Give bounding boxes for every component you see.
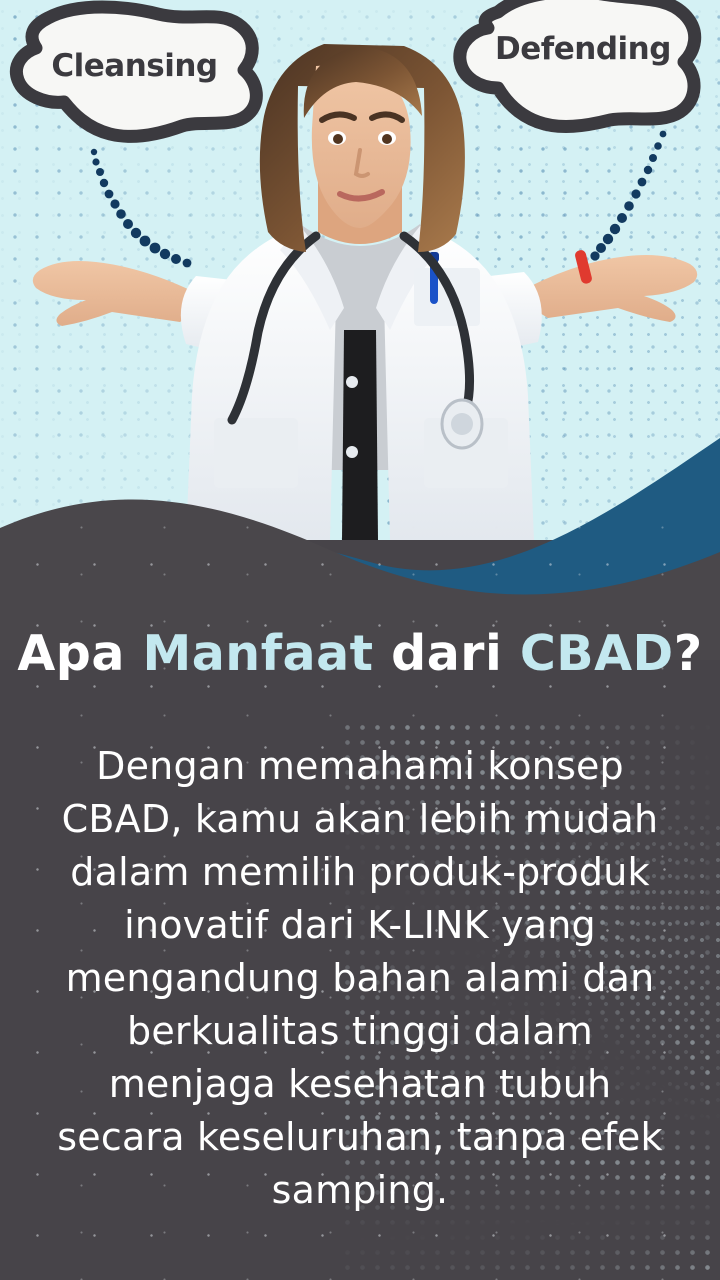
speech-bubble-cleansing-label: Cleansing bbox=[6, 4, 271, 146]
dotted-trail-left bbox=[60, 130, 240, 310]
headline-word-4: CBAD bbox=[520, 625, 674, 682]
poster-slide: Cleansing Defending Apa Manfaat dari CBA… bbox=[0, 0, 720, 1280]
body-line: mengandung bahan alami dan bbox=[28, 952, 692, 1005]
body-line: menjaga kesehatan tubuh bbox=[28, 1058, 692, 1111]
body-line: CBAD, kamu akan lebih mudah bbox=[28, 793, 692, 846]
body-line: dalam memilih produk-produk bbox=[28, 846, 692, 899]
body-line: inovatif dari K-LINK yang bbox=[28, 899, 692, 952]
body-line: secara keseluruhan, tanpa efek bbox=[28, 1111, 692, 1164]
speech-bubble-defending-label: Defending bbox=[452, 0, 714, 138]
headline-word-3: dari bbox=[391, 625, 502, 682]
speech-bubble-cleansing[interactable]: Cleansing bbox=[6, 4, 271, 146]
body-line: samping. bbox=[28, 1164, 692, 1217]
page-title: Apa Manfaat dari CBAD? bbox=[0, 628, 720, 679]
headline-word-2: Manfaat bbox=[142, 625, 373, 682]
dotted-trail-right bbox=[570, 126, 710, 316]
headline-word-5: ? bbox=[674, 625, 703, 682]
headline-word-1: Apa bbox=[17, 625, 125, 682]
body-paragraph: Dengan memahami konsep CBAD, kamu akan l… bbox=[28, 740, 692, 1217]
speech-bubble-defending[interactable]: Defending bbox=[452, 0, 714, 138]
body-line: Dengan memahami konsep bbox=[28, 740, 692, 793]
body-line: berkualitas tinggi dalam bbox=[28, 1005, 692, 1058]
